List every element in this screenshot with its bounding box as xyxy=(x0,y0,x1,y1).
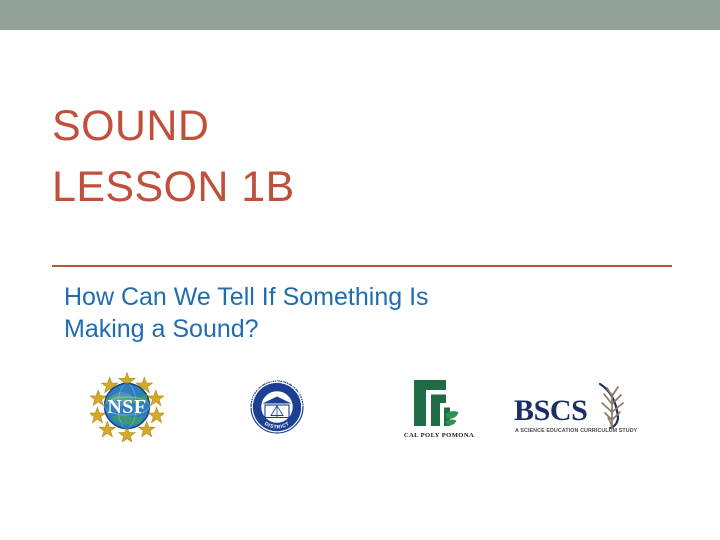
cpp-leaf-icon xyxy=(446,411,459,425)
top-accent-band xyxy=(0,0,720,30)
title-divider-rule xyxy=(52,265,672,267)
bscs-logo: BSCS A SCIENCE EDUCATION CURRICULUM STUD… xyxy=(512,370,640,442)
sponsor-logo-row: NSF CORONA UNIFIED SCHOOL DISTRICT xyxy=(80,370,640,442)
nsf-wordmark: NSF xyxy=(107,396,146,418)
presentation-slide: SOUND LESSON 1B How Can We Tell If Somet… xyxy=(0,0,720,540)
title-line-2: LESSON 1B xyxy=(52,157,672,218)
title-line-1: SOUND xyxy=(52,96,672,157)
nsf-logo: NSF xyxy=(90,370,164,442)
subtitle-line-2: Making a Sound? xyxy=(64,314,664,346)
bscs-tagline: A SCIENCE EDUCATION CURRICULUM STUDY xyxy=(515,428,638,434)
bscs-tree-icon xyxy=(600,384,623,428)
slide-title: SOUND LESSON 1B xyxy=(52,96,672,218)
bscs-wordmark: BSCS xyxy=(514,394,587,427)
cpp-wordmark: CAL POLY POMONA xyxy=(404,432,474,439)
corona-unified-school-district-logo: CORONA UNIFIED SCHOOL DISTRICT xyxy=(240,370,314,442)
subtitle-line-1: How Can We Tell If Something Is xyxy=(64,282,664,314)
cpp-mark xyxy=(414,380,450,426)
slide-subtitle: How Can We Tell If Something Is Making a… xyxy=(64,282,664,345)
cal-poly-pomona-logo: CAL POLY POMONA xyxy=(398,370,480,442)
